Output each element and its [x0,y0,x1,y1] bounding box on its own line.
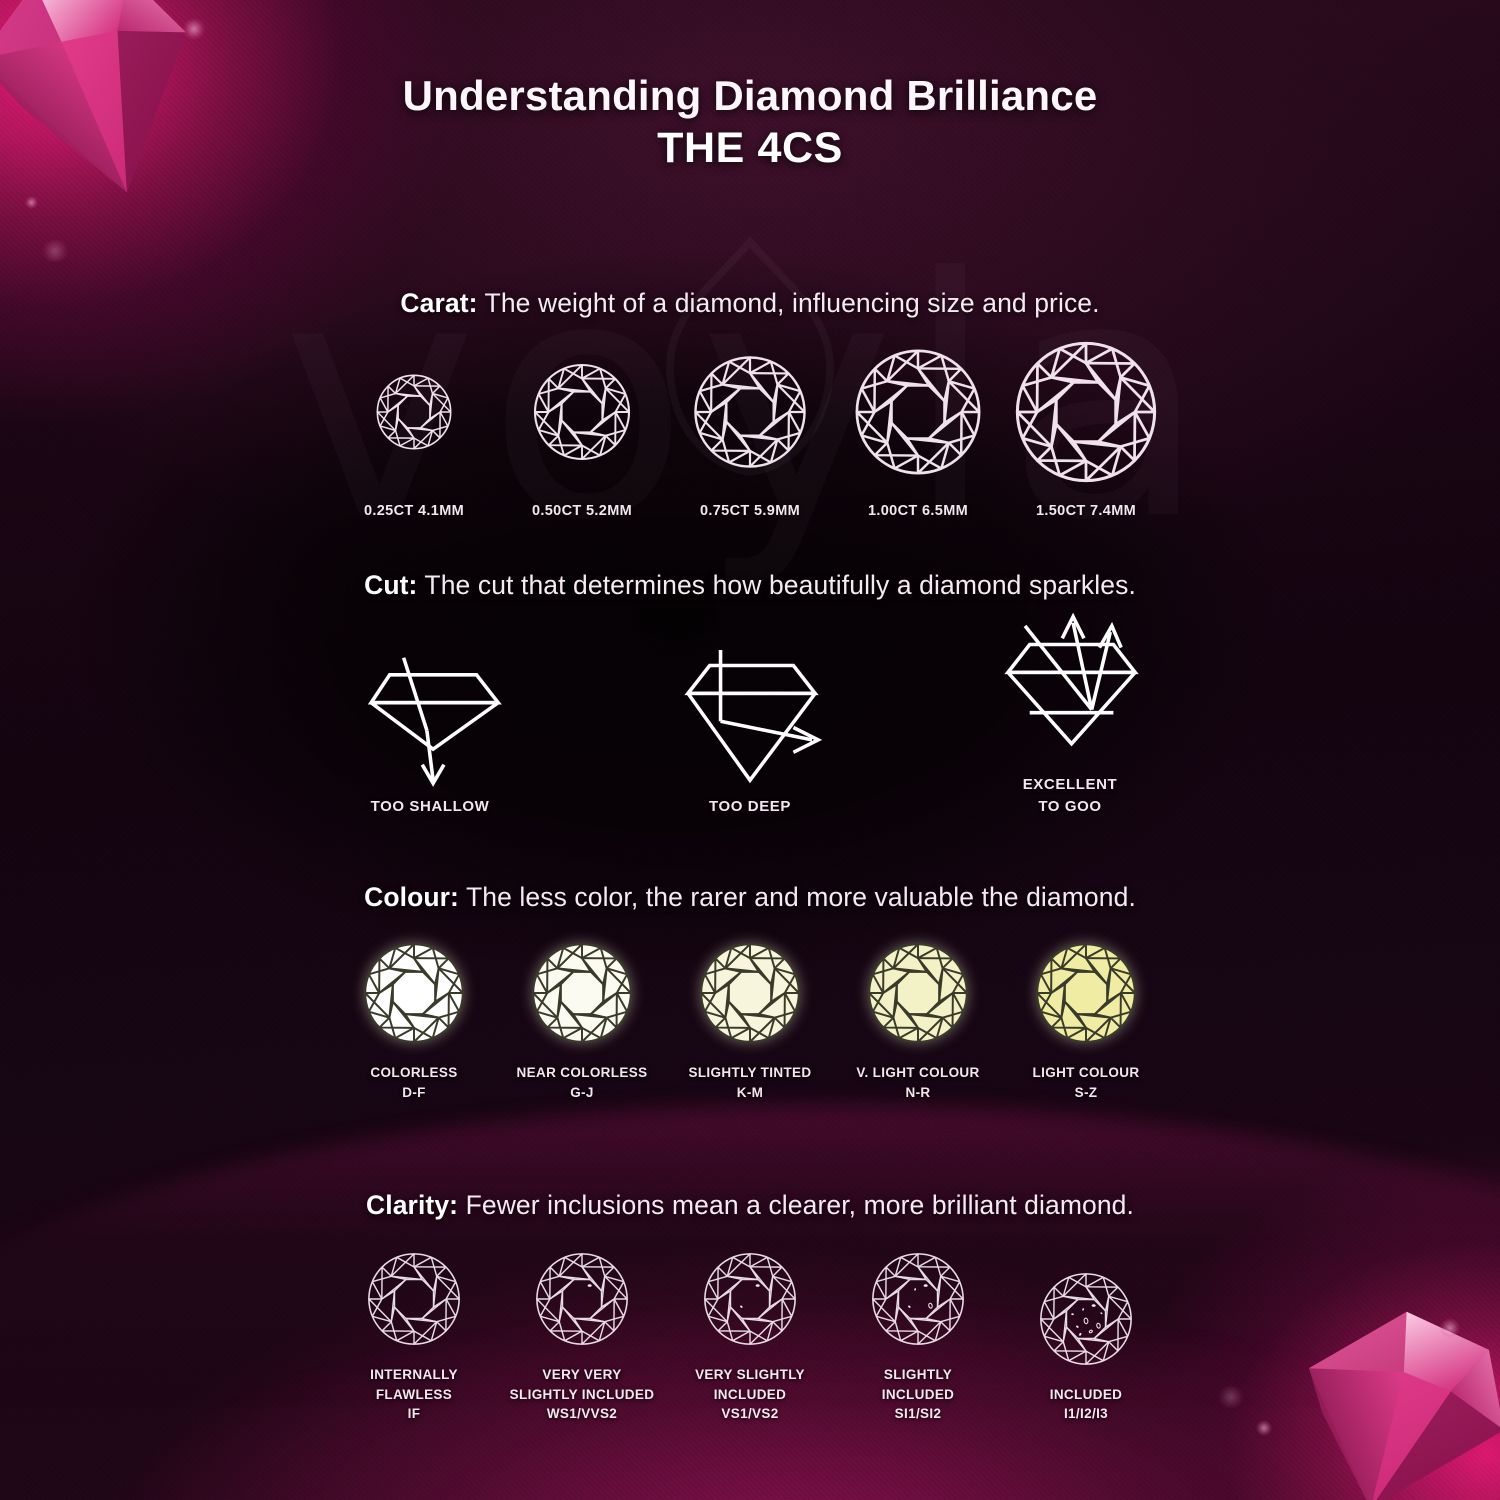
carat-label: 0.75CT 5.9MM [700,501,800,522]
carat-label-line: 0.25CT 4.1MM [364,501,464,522]
carat-item[interactable]: 0.25CT 4.1MM [330,337,498,522]
colour-label: COLORLESSD-F [370,1063,457,1102]
colour-diagram-icon [362,937,466,1049]
title-line-2: THE 4CS [0,123,1500,175]
cut-label-line: TOO DEEP [709,796,791,818]
cut-diagram-icon [977,623,1163,758]
clarity-label: SLIGHTLYINCLUDEDSI1/SI2 [882,1365,955,1424]
cut-label: TOO DEEP [709,796,791,818]
colour-diagram-icon [1034,937,1138,1049]
section-clarity: Clarity: Fewer inclusions mean a clearer… [0,1190,1500,1424]
clarity-diagram-icon [534,1247,630,1351]
carat-heading: Carat: The weight of a diamond, influenc… [0,288,1500,319]
clarity-diagram-icon [366,1247,462,1351]
clarity-label-line: FLAWLESS [370,1385,458,1405]
carat-label: 0.25CT 4.1MM [364,501,464,522]
carat-diagram-icon [375,337,453,487]
clarity-diagram-icon [702,1247,798,1351]
clarity-description: Fewer inclusions mean a clearer, more br… [458,1190,1134,1220]
clarity-label-line: INTERNALLY [370,1365,458,1385]
cut-diagram-icon [657,645,843,780]
colour-label-line: G-J [517,1083,648,1103]
colour-item[interactable]: SLIGHTLY TINTEDK-M [666,937,834,1102]
cut-diagram-icon [337,645,523,780]
clarity-row: INTERNALLYFLAWLESSIFVERY VERYSLIGHTLY IN… [0,1247,1500,1424]
cut-label: TOO SHALLOW [371,796,490,818]
cut-label-line: EXCELLENT [1023,774,1118,796]
clarity-label-line: SLIGHTLY INCLUDED [510,1385,655,1405]
carat-label-line: 0.75CT 5.9MM [700,501,800,522]
colour-label-line: SLIGHTLY TINTED [688,1063,811,1083]
clarity-label-line: INCLUDED [695,1385,805,1405]
colour-label: V. LIGHT COLOURN-R [856,1063,979,1102]
section-cut: Cut: The cut that determines how beautif… [0,570,1500,818]
clarity-label-line: VERY VERY [510,1365,655,1385]
clarity-item[interactable]: INTERNALLYFLAWLESSIF [330,1247,498,1424]
clarity-diagram-icon [1038,1267,1134,1371]
colour-item[interactable]: LIGHT COLOURS-Z [1002,937,1170,1102]
cut-heading: Cut: The cut that determines how beautif… [0,570,1500,601]
carat-item[interactable]: 0.75CT 5.9MM [666,337,834,522]
clarity-item[interactable]: INCLUDEDI1/I2/I3 [1002,1267,1170,1424]
clarity-label-line: VERY SLIGHTLY [695,1365,805,1385]
clarity-item[interactable]: VERY SLIGHTLYINCLUDEDVS1/VS2 [666,1247,834,1424]
page-title: Understanding Diamond Brilliance THE 4CS [0,72,1500,175]
clarity-item[interactable]: VERY VERYSLIGHTLY INCLUDEDWS1/VVS2 [498,1247,666,1424]
colour-label: SLIGHTLY TINTEDK-M [688,1063,811,1102]
carat-diagram-icon [1013,337,1159,487]
carat-label-line: 1.50CT 7.4MM [1036,501,1136,522]
section-carat: Carat: The weight of a diamond, influenc… [0,288,1500,522]
colour-diagram-icon [698,937,802,1049]
carat-label: 1.50CT 7.4MM [1036,501,1136,522]
colour-heading: Colour: The less color, the rarer and mo… [0,882,1500,913]
carat-label: 0.50CT 5.2MM [532,501,632,522]
cut-label-line: TOO SHALLOW [371,796,490,818]
clarity-label-line: VS1/VS2 [695,1404,805,1424]
clarity-heading: Clarity: Fewer inclusions mean a clearer… [0,1190,1500,1221]
carat-label-line: 0.50CT 5.2MM [532,501,632,522]
cut-label-line: TO GOO [1023,796,1118,818]
colour-label: NEAR COLORLESSG-J [517,1063,648,1102]
clarity-label-line: SLIGHTLY [882,1365,955,1385]
title-line-1: Understanding Diamond Brilliance [0,72,1500,119]
cut-label: EXCELLENTTO GOO [1023,774,1118,818]
colour-label-line: NEAR COLORLESS [517,1063,648,1083]
colour-label: LIGHT COLOURS-Z [1033,1063,1140,1102]
cut-item[interactable]: TOO DEEP [650,645,850,818]
colour-label-line: V. LIGHT COLOUR [856,1063,979,1083]
clarity-label-line: SI1/SI2 [882,1404,955,1424]
clarity-diagram-icon [870,1247,966,1351]
colour-diagram-icon [530,937,634,1049]
cut-term: Cut: [364,570,417,600]
colour-term: Colour: [364,882,459,912]
carat-diagram-icon [532,337,632,487]
colour-label-line: LIGHT COLOUR [1033,1063,1140,1083]
carat-label-line: 1.00CT 6.5MM [868,501,968,522]
colour-label-line: COLORLESS [370,1063,457,1083]
colour-label-line: S-Z [1033,1083,1140,1103]
colour-description: The less color, the rarer and more valua… [459,882,1136,912]
clarity-label-line: INCLUDED [1050,1385,1123,1405]
cut-item[interactable]: TOO SHALLOW [330,645,530,818]
clarity-label-line: WS1/VVS2 [510,1404,655,1424]
colour-label-line: K-M [688,1083,811,1103]
colour-item[interactable]: COLORLESSD-F [330,937,498,1102]
carat-item[interactable]: 1.00CT 6.5MM [834,337,1002,522]
carat-row: 0.25CT 4.1MM0.50CT 5.2MM0.75CT 5.9MM1.00… [0,337,1500,522]
cut-row: TOO SHALLOWTOO DEEPEXCELLENTTO GOO [0,623,1500,818]
colour-label-line: D-F [370,1083,457,1103]
clarity-label-line: I1/I2/I3 [1050,1404,1123,1424]
carat-diagram-icon [853,337,983,487]
carat-description: The weight of a diamond, influencing siz… [478,288,1100,318]
colour-diagram-icon [866,937,970,1049]
clarity-term: Clarity: [366,1190,458,1220]
colour-item[interactable]: V. LIGHT COLOURN-R [834,937,1002,1102]
cut-description: The cut that determines how beautifully … [417,570,1135,600]
carat-item[interactable]: 1.50CT 7.4MM [1002,337,1170,522]
clarity-label-line: INCLUDED [882,1385,955,1405]
carat-term: Carat: [400,288,477,318]
clarity-item[interactable]: SLIGHTLYINCLUDEDSI1/SI2 [834,1247,1002,1424]
infographic-page: voyla [0,0,1500,1500]
carat-item[interactable]: 0.50CT 5.2MM [498,337,666,522]
clarity-label: VERY VERYSLIGHTLY INCLUDEDWS1/VVS2 [510,1365,655,1424]
carat-diagram-icon [692,337,808,487]
colour-row: COLORLESSD-FNEAR COLORLESSG-JSLIGHTLY TI… [0,937,1500,1102]
clarity-label-line: IF [370,1404,458,1424]
colour-item[interactable]: NEAR COLORLESSG-J [498,937,666,1102]
clarity-label: VERY SLIGHTLYINCLUDEDVS1/VS2 [695,1365,805,1424]
clarity-label: INCLUDEDI1/I2/I3 [1050,1385,1123,1424]
carat-label: 1.00CT 6.5MM [868,501,968,522]
colour-label-line: N-R [856,1083,979,1103]
cut-item[interactable]: EXCELLENTTO GOO [970,623,1170,818]
clarity-label: INTERNALLYFLAWLESSIF [370,1365,458,1424]
section-colour: Colour: The less color, the rarer and mo… [0,882,1500,1102]
